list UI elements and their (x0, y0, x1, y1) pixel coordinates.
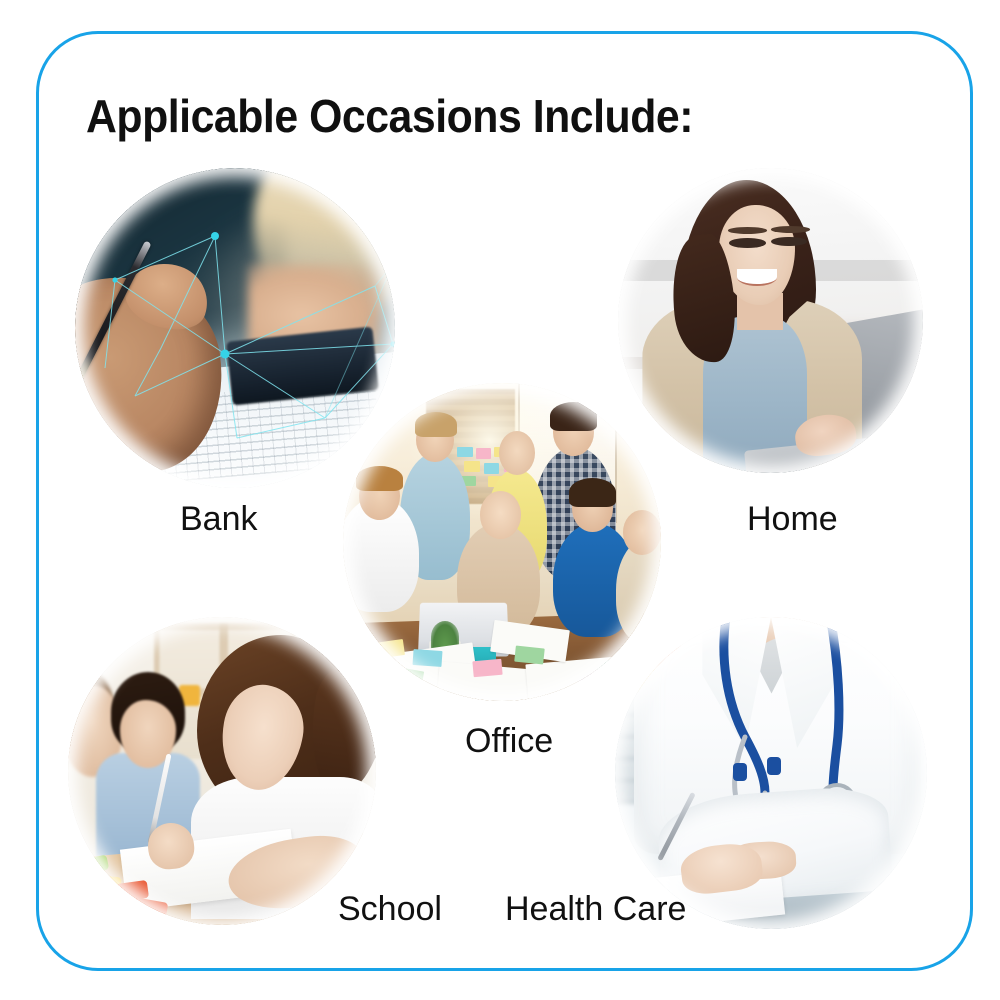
occasion-image-office (343, 383, 661, 701)
occasion-label-school: School (338, 890, 442, 929)
occasion-image-health-care (615, 617, 927, 929)
occasion-image-school (68, 617, 376, 925)
occasion-label-office: Office (465, 722, 553, 761)
occasion-image-home (618, 168, 923, 473)
page-title: Applicable Occasions Include: (86, 92, 693, 140)
product-infographic-page: Applicable Occasions Include: (0, 0, 1000, 1000)
occasion-label-home: Home (747, 500, 838, 539)
occasion-label-health-care: Health Care (505, 890, 686, 929)
occasion-label-bank: Bank (180, 500, 258, 539)
